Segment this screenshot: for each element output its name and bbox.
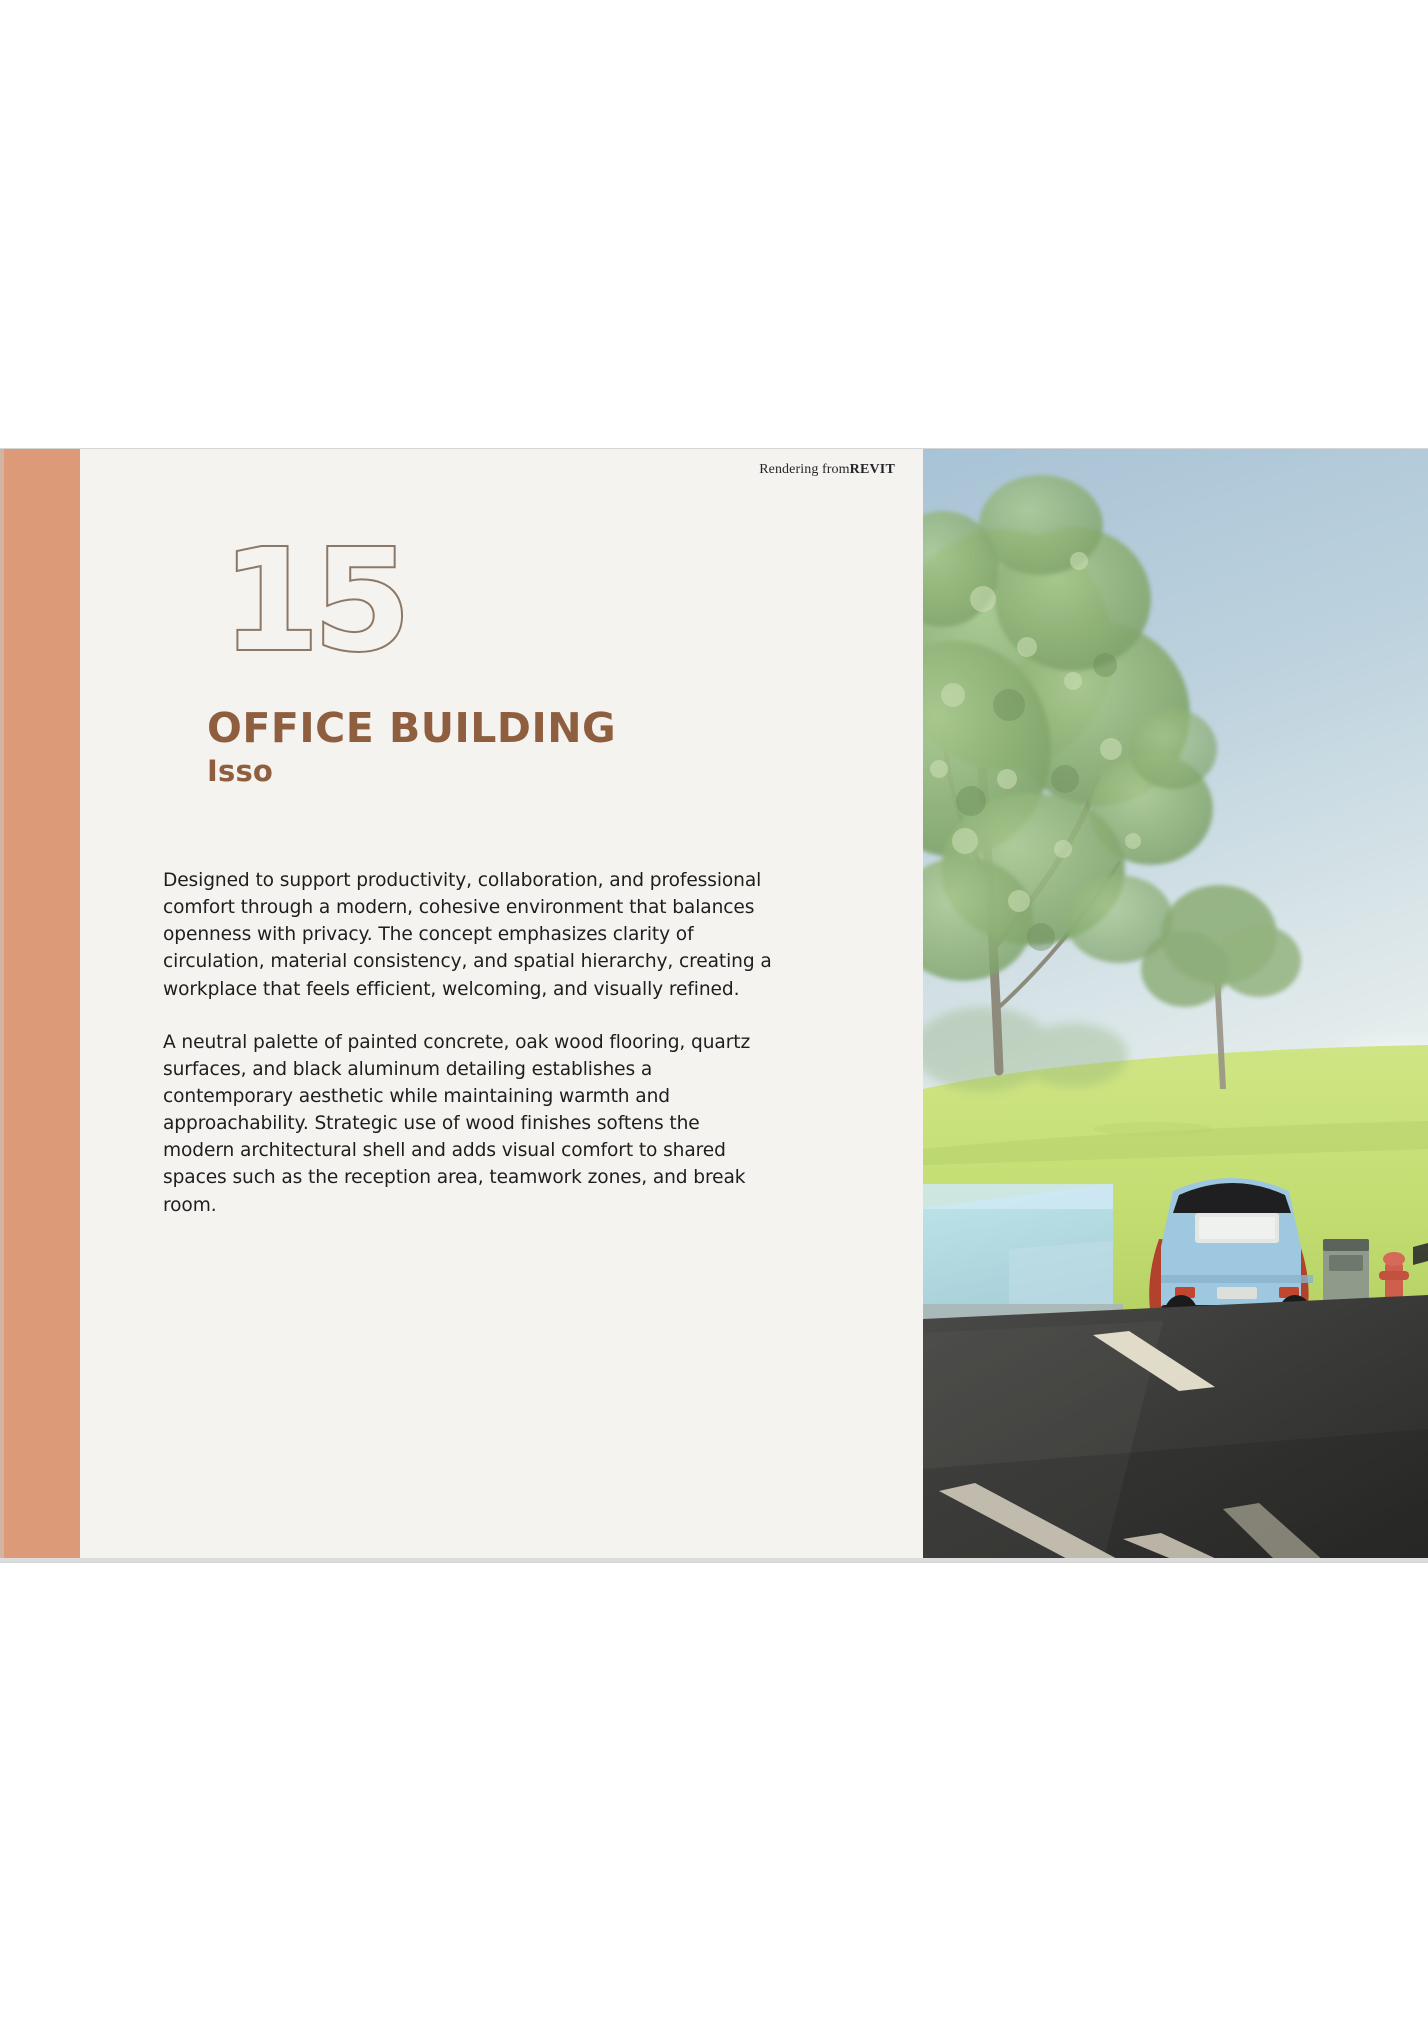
body-copy: Designed to support productivity, collab… <box>163 867 773 1219</box>
slide-card: Rendering fromREVIT 15 OFFICE BUILDING I… <box>0 449 1428 1562</box>
title-block: OFFICE BUILDING Isso <box>207 707 827 788</box>
building <box>923 1184 1123 1326</box>
render-source-prefix: Rendering from <box>759 462 849 477</box>
card-bottom-rule <box>0 1558 1428 1562</box>
accent-stripe-edge <box>0 449 4 1562</box>
render-source-software: REVIT <box>850 462 895 477</box>
slide-number: 15 <box>222 532 405 672</box>
render-source-caption: Rendering fromREVIT <box>759 462 895 478</box>
left-accent-stripe <box>0 449 80 1562</box>
content-column: Rendering fromREVIT 15 OFFICE BUILDING I… <box>80 449 923 1562</box>
rendering-image <box>923 449 1428 1562</box>
rendering-illustration <box>923 449 1428 1562</box>
page-title: OFFICE BUILDING <box>207 707 827 750</box>
body-paragraph-2: A neutral palette of painted concrete, o… <box>163 1029 773 1219</box>
body-paragraph-1: Designed to support productivity, collab… <box>163 867 773 1003</box>
page-subtitle: Isso <box>207 756 827 788</box>
